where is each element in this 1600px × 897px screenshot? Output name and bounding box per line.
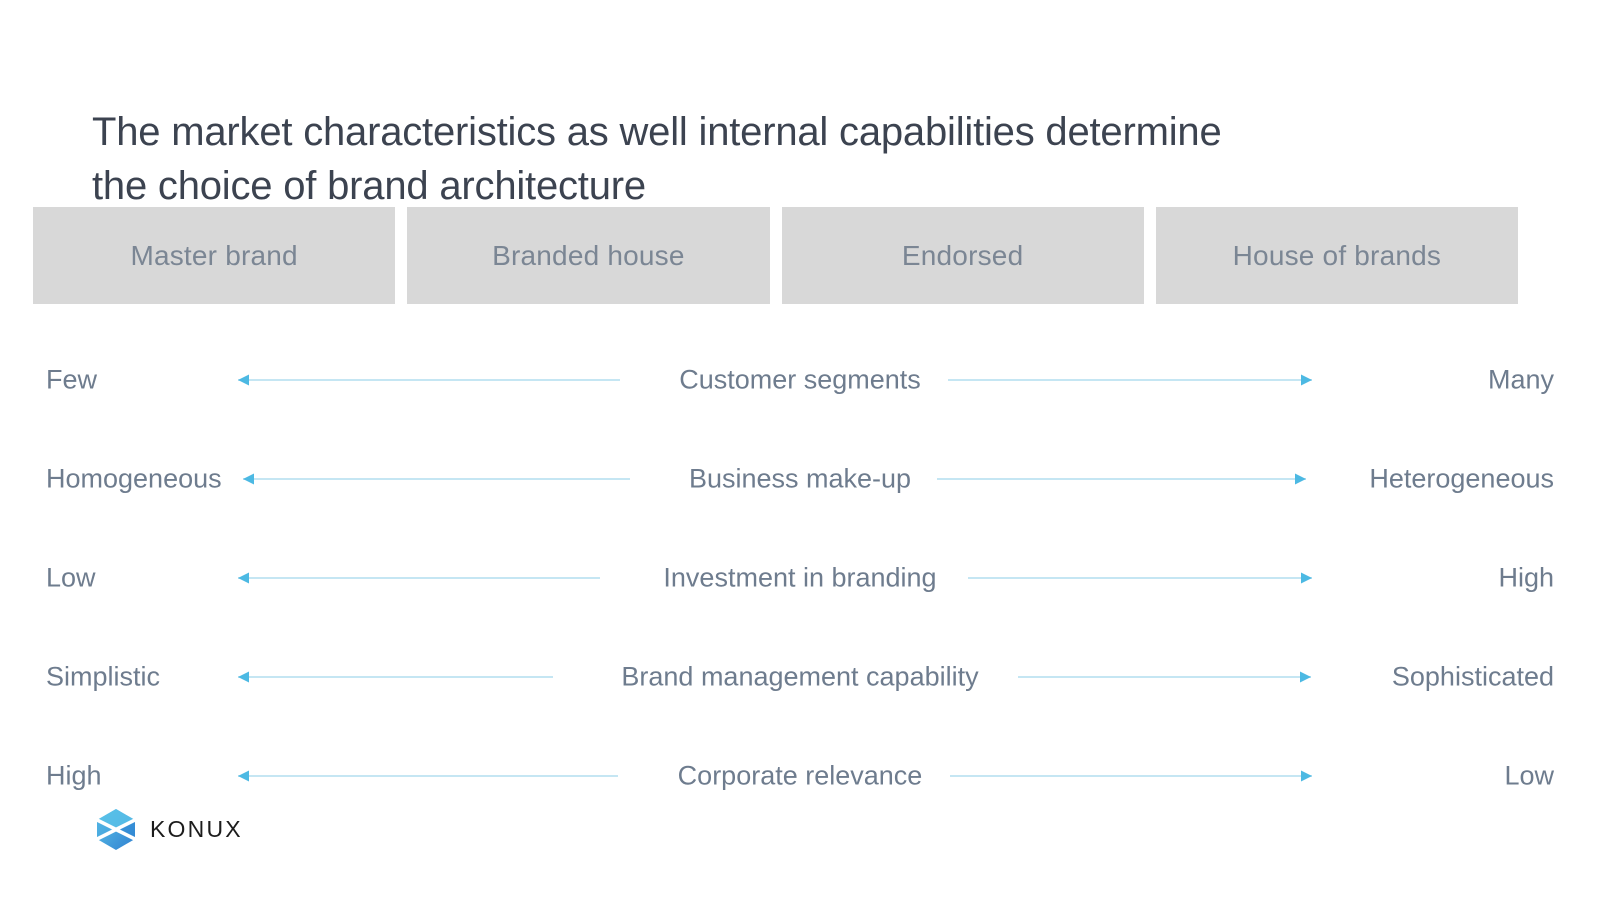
- center-label: Business make-up: [669, 463, 931, 494]
- dimension-rows: Few Customer segments Many Homogeneous B…: [0, 330, 1600, 825]
- center-label: Investment in branding: [643, 562, 956, 593]
- page-title: The market characteristics as well inter…: [92, 105, 1492, 213]
- arrow-head-left: [238, 572, 249, 583]
- header-box-branded-house[interactable]: Branded house: [407, 207, 769, 304]
- header-box-label: Master brand: [130, 240, 297, 272]
- arrow-head-right: [1301, 770, 1312, 781]
- dimension-row-business-make-up: Homogeneous Business make-up Heterogeneo…: [0, 429, 1600, 528]
- arrow-head-left: [238, 374, 249, 385]
- arrow-head-left: [238, 770, 249, 781]
- header-box-house-of-brands[interactable]: House of brands: [1156, 207, 1518, 304]
- konux-hexagon-icon: [93, 806, 139, 852]
- arrow-head-right: [1300, 671, 1311, 682]
- header-box-endorsed[interactable]: Endorsed: [782, 207, 1144, 304]
- arrow-head-right: [1301, 374, 1312, 385]
- header-box-label: House of brands: [1233, 240, 1441, 272]
- konux-wordmark: KONUX: [150, 816, 243, 843]
- center-label: Brand management capability: [601, 661, 998, 692]
- arrow-head-right: [1301, 572, 1312, 583]
- dimension-row-customer-segments: Few Customer segments Many: [0, 330, 1600, 429]
- center-label: Customer segments: [659, 364, 941, 395]
- page-title-line-2: the choice of brand architecture: [92, 159, 1492, 213]
- page-title-line-1: The market characteristics as well inter…: [92, 105, 1492, 159]
- header-box-label: Branded house: [492, 240, 685, 272]
- brand-logo: KONUX: [93, 806, 243, 852]
- center-label: Corporate relevance: [658, 760, 943, 791]
- header-box-master-brand[interactable]: Master brand: [33, 207, 395, 304]
- arrow-head-left: [238, 671, 249, 682]
- brand-architecture-header-row: Master brand Branded house Endorsed Hous…: [33, 207, 1518, 304]
- slide-canvas: The market characteristics as well inter…: [0, 0, 1600, 897]
- arrow-head-left: [243, 473, 254, 484]
- header-box-label: Endorsed: [902, 240, 1023, 272]
- dimension-row-brand-management-capability: Simplistic Brand management capability S…: [0, 627, 1600, 726]
- dimension-row-investment-in-branding: Low Investment in branding High: [0, 528, 1600, 627]
- arrow-head-right: [1295, 473, 1306, 484]
